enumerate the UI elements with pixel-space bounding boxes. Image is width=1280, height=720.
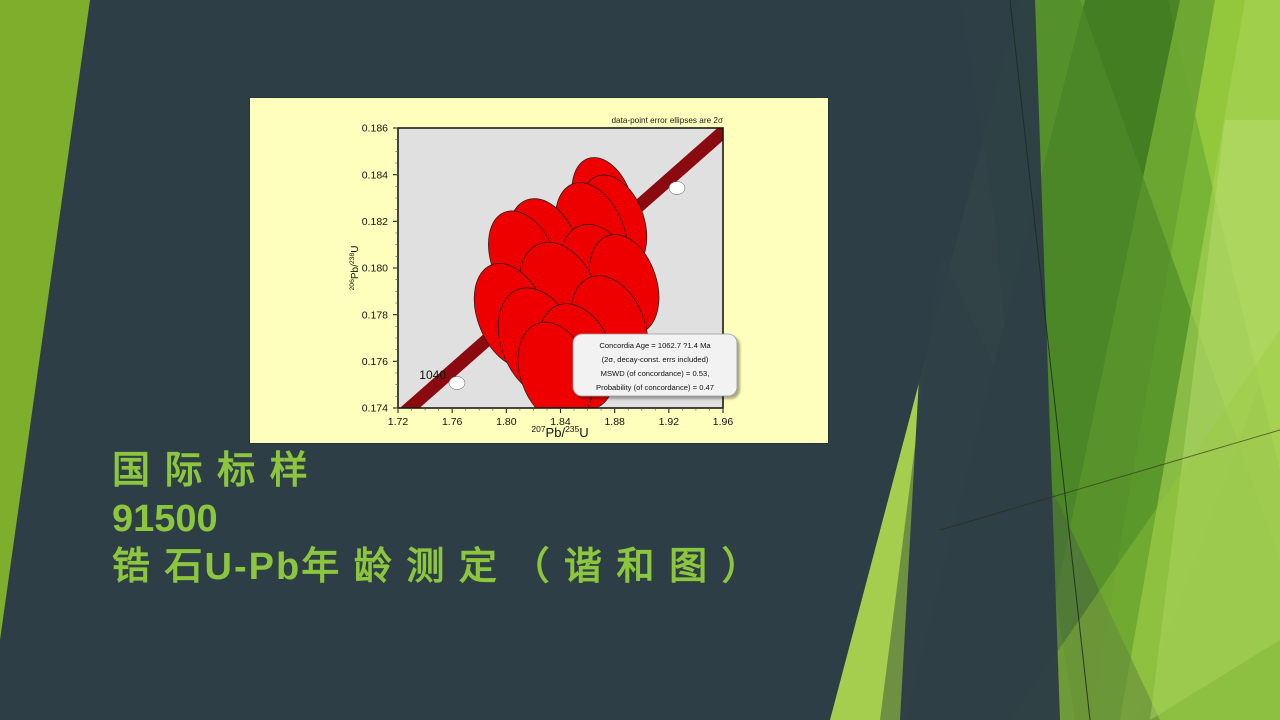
y-axis-tick-label: 0.176 [362,356,388,368]
x-axis-tick-label: 1.72 [388,416,409,428]
y-axis-tick-label: 0.182 [362,216,388,228]
x-axis-tick-label: 1.88 [604,416,625,428]
y-axis-tick-label: 0.180 [362,263,388,275]
concordia-marker-1040 [449,377,465,390]
y-axis-tick-label: 0.186 [362,123,388,135]
x-axis-tick-label: 1.80 [496,416,517,428]
slide-title-line-3: 锆 石U-Pb年 龄 测 定 （ 谐 和 图 ） [112,548,812,586]
callout-line-2: (2σ, decay-const. errs included) [602,355,709,364]
x-axis-tick-label: 1.96 [713,416,734,428]
concordia-age-callout: Concordia Age = 1062.7 ?1.4 Ma (2σ, deca… [573,334,737,396]
x-axis-tick-label: 1.92 [659,416,680,428]
y-axis-tick-label: 0.178 [362,309,388,321]
plot-header-note: data-point error ellipses are 2σ [611,116,723,125]
slide-title: 国 际 标 样 91500 锆 石U-Pb年 龄 测 定 （ 谐 和 图 ） [112,452,812,596]
callout-line-3: MSWD (of concordance) = 0.53, [601,369,710,378]
callout-line-1: Concordia Age = 1062.7 ?1.4 Ma [599,341,711,350]
concordia-plot-image: data-point error ellipses are 2σ 1.721.7… [250,98,828,443]
callout-line-4: Probability (of concordance) = 0.47 [596,383,714,392]
concordia-age-label-1040: 1040 [419,368,446,382]
presentation-slide: data-point error ellipses are 2σ 1.721.7… [0,0,1280,720]
concordia-marker-upper [669,182,685,195]
y-axis-tick-label: 0.174 [362,403,388,415]
slide-title-line-1: 国 际 标 样 [112,452,812,490]
y-axis-tick-label: 0.184 [362,169,388,181]
concordia-plot-svg: data-point error ellipses are 2σ 1.721.7… [250,98,828,443]
x-axis-tick-label: 1.76 [442,416,463,428]
slide-title-line-2: 91500 [112,500,812,538]
